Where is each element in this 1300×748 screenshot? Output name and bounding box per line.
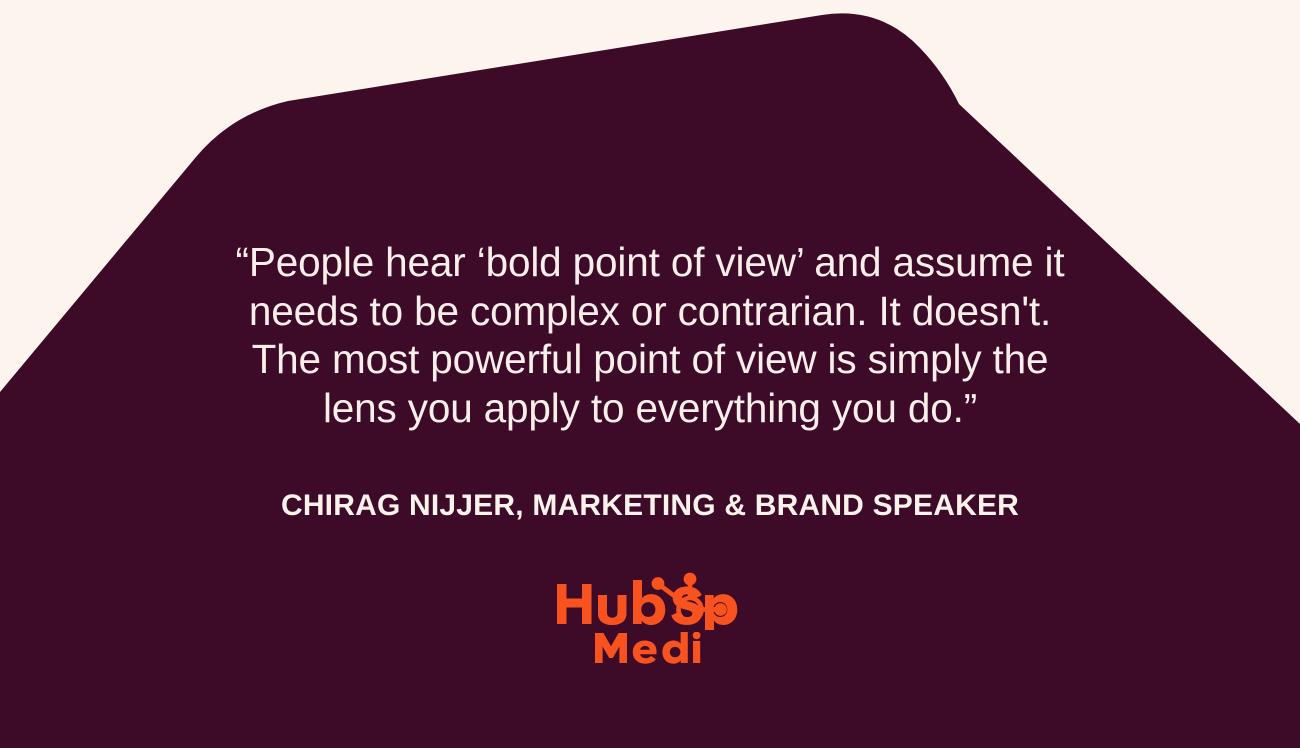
sprocket-dot-right — [714, 603, 727, 616]
attribution-line: CHIRAG NIJJER, MARKETING & BRAND SPEAKER — [0, 487, 1300, 525]
letter-u — [598, 595, 627, 625]
hubspot-media-logo[interactable] — [535, 568, 765, 666]
media-letter-d — [662, 632, 687, 664]
sprocket-spoke-upleft — [661, 586, 682, 601]
media-letter-i — [693, 641, 700, 663]
quote-card: “People hear ‘bold point of view’ and as… — [0, 0, 1300, 748]
media-letter-m — [595, 633, 627, 663]
sprocket-dot-upleft — [652, 577, 665, 590]
media-letter-e — [633, 641, 657, 664]
quote-block: “People hear ‘bold point of view’ and as… — [0, 238, 1300, 432]
hubspot-sprocket-icon — [647, 568, 733, 630]
media-sublabel — [594, 632, 706, 666]
letter-h — [557, 584, 592, 624]
quote-text: “People hear ‘bold point of view’ and as… — [185, 238, 1115, 432]
sprocket-ring — [679, 598, 702, 621]
card-content: “People hear ‘bold point of view’ and as… — [0, 0, 1300, 748]
media-letter-i-dot — [693, 632, 701, 639]
sprocket-dot-top — [684, 573, 697, 586]
